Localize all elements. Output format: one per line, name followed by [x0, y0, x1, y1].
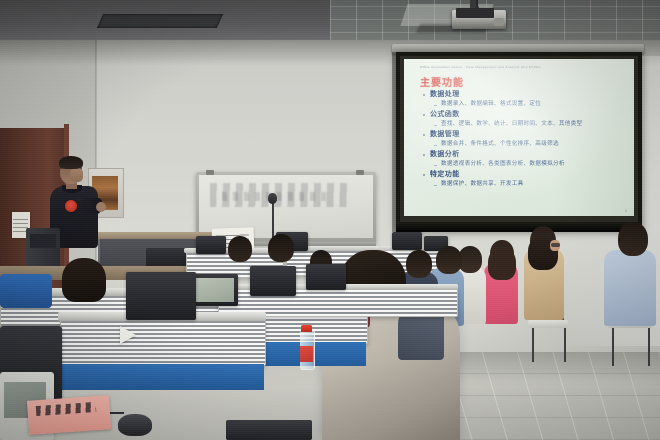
lab-monitor [250, 266, 296, 296]
audience-member-body [604, 250, 656, 326]
slide-item-sub: 数据保护、数据共享、开发工具 [422, 180, 628, 189]
audience-member-head [268, 234, 294, 262]
slide-item: 特定功能 数据保护、数据共享、开发工具 [422, 170, 628, 189]
classroom-scene: Office Automation Series · Data Manageme… [0, 0, 660, 440]
water-bottle-cap [301, 325, 312, 332]
lab-monitor [196, 236, 226, 254]
slide-item-heading: 公式函数 [422, 110, 628, 120]
slide-page-number: 6 [625, 209, 627, 213]
slide-body: 数据处理 数据录入、数据编辑、格式设置、定位 公式函数 查找、逻辑、数学、统计、… [422, 90, 628, 190]
slide-item-heading: 数据管理 [422, 130, 628, 140]
pc-tower-front-panel [30, 234, 56, 248]
presentation-slide: Office Automation Series · Data Manageme… [404, 59, 634, 216]
wall-corner-edge [95, 40, 97, 290]
slide-item: 数据管理 数据合并、条件格式、个性化排序、高级筛选 [422, 130, 628, 149]
lab-monitor-screen [194, 278, 234, 302]
presenter-hand [96, 202, 106, 212]
audience-member-head [436, 246, 462, 274]
eyeglasses-icon [551, 243, 560, 247]
chair-seat [528, 320, 568, 328]
ceiling-vent [97, 14, 223, 28]
slide-item-sub: 查找、逻辑、数学、统计、日期时间、文本、其他类型 [422, 120, 628, 129]
lab-desk-divider [60, 320, 266, 366]
slide-title: 主要功能 [420, 74, 464, 89]
lab-monitor [306, 264, 346, 290]
audience-member-hair [488, 248, 516, 280]
slide-item-sub: 数据透视表分析、各类图表分析、数据模拟分析 [422, 160, 628, 169]
slide-item-sub: 数据录入、数据编辑、格式设置、定位 [422, 100, 628, 109]
folded-paper-tent [120, 326, 136, 344]
chair-leg [564, 328, 566, 362]
chair-leg [648, 328, 650, 366]
water-bottle-label [300, 346, 313, 362]
microphone-head [268, 193, 277, 204]
slide-item: 数据分析 数据透视表分析、各类图表分析、数据模拟分析 [422, 150, 628, 169]
lab-desk-surface [60, 364, 264, 390]
audience-member-body [0, 274, 52, 308]
audience-member-head [62, 258, 106, 302]
projector-top-panel [456, 8, 494, 18]
computer-mouse[interactable] [118, 414, 152, 436]
presenter-shirt-logo [65, 200, 77, 212]
lab-monitor [392, 232, 422, 250]
slide-header-line: Office Automation Series · Data Manageme… [420, 65, 620, 69]
slide-item: 数据处理 数据录入、数据编辑、格式设置、定位 [422, 90, 628, 109]
lab-monitor [126, 272, 196, 320]
whiteboard-writing-secondary [222, 192, 332, 201]
audience-member-head [406, 250, 432, 278]
slide-item-heading: 数据处理 [422, 90, 628, 100]
whiteboard-clip-left [206, 170, 214, 175]
computer-keyboard[interactable] [226, 420, 312, 440]
slide-item-sub: 数据合并、条件格式、个性化排序、高级筛选 [422, 140, 628, 149]
audience-member-head [618, 222, 648, 256]
presenter-face [70, 168, 83, 182]
whiteboard-clip-right [356, 170, 364, 175]
presenter-hair [59, 156, 83, 169]
chair-leg [612, 328, 614, 366]
slide-item: 公式函数 查找、逻辑、数学、统计、日期时间、文本、其他类型 [422, 110, 628, 129]
audience-member-head [228, 236, 252, 262]
slide-item-heading: 特定功能 [422, 170, 628, 180]
projection-screen-bottom-bar [396, 222, 642, 232]
chair-leg [532, 328, 534, 362]
projector-lens [494, 18, 504, 26]
slide-item-heading: 数据分析 [422, 150, 628, 160]
